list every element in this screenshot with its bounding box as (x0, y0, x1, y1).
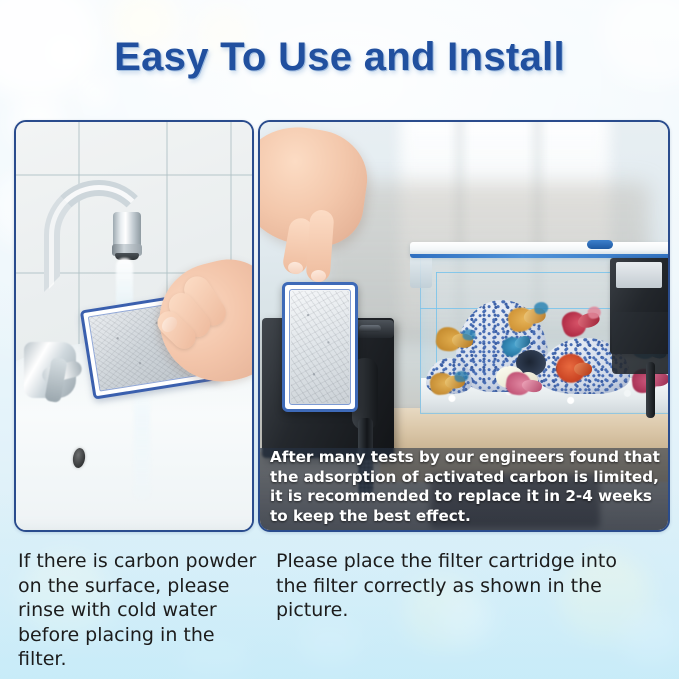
fingernail (311, 270, 326, 282)
betta-red-round (555, 353, 593, 385)
left-photo-canvas (16, 122, 252, 530)
install-cartridge-photo: After many tests by our engineers found … (258, 120, 670, 532)
filter-button (359, 325, 381, 332)
tile-grout-line (16, 174, 252, 176)
page-title: Easy To Use and Install (0, 34, 679, 80)
table-top (380, 408, 668, 452)
betta-gold-mid (435, 324, 478, 356)
caption-right: Please place the filter cartridge into t… (276, 549, 648, 623)
right-photo-canvas: After many tests by our engineers found … (260, 122, 668, 530)
betta-pink (504, 369, 545, 400)
caption-left: If there is carbon powder on the surface… (18, 549, 263, 672)
betta-gold-low (429, 368, 471, 397)
hob-cartridge-slot (616, 262, 662, 288)
rinse-cartridge-photo (14, 120, 254, 532)
hood-knob (587, 240, 613, 249)
hob-intake-tube (646, 362, 655, 418)
overlay-text: After many tests by our engineers found … (270, 448, 660, 526)
hob-lower-body (612, 312, 668, 374)
filter-cartridge (282, 282, 358, 412)
cartridge-fiber-texture (291, 291, 349, 403)
page-root: Easy To Use and Install (0, 0, 679, 679)
